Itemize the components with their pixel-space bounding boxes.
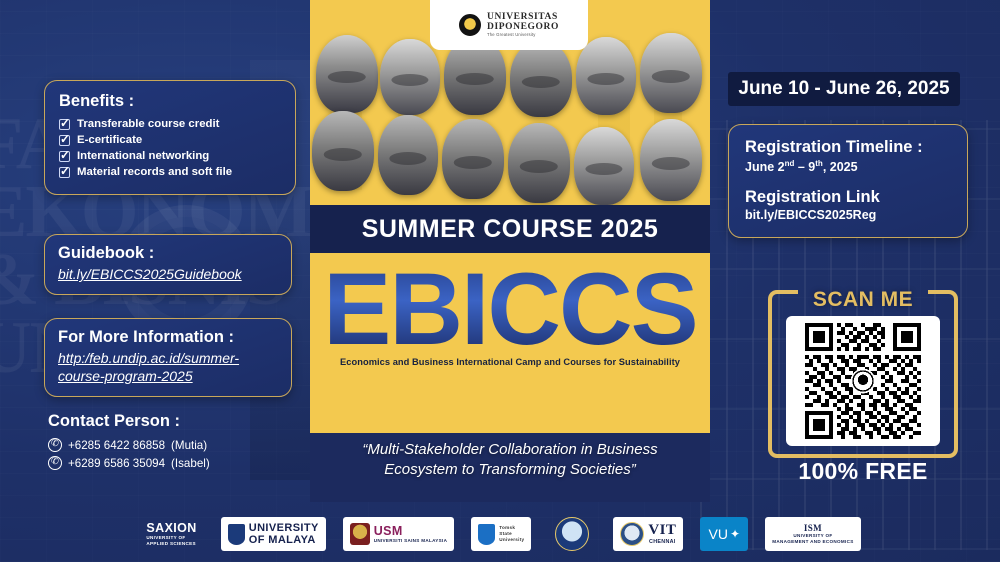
partner-logos-footer: SAXION UNIVERSITY OFAPPLIED SCIENCES UNI… [0, 506, 1000, 562]
partner-logo-usm: USM UNIVERSITI SAINS MALAYSIA [343, 517, 454, 551]
summer-course-bar: SUMMER COURSE 2025 [310, 205, 710, 253]
speaker-portrait [640, 119, 702, 201]
speaker-portrait [576, 37, 636, 115]
registration-link-title: Registration Link [745, 188, 951, 207]
event-date-text: June 10 - June 26, 2025 [738, 78, 949, 100]
benefit-label: Transferable course credit [77, 118, 219, 130]
partner-seal-icon [555, 517, 589, 551]
reg-date-sup-2: th [815, 159, 823, 168]
ism-sub: UNIVERSITY OFMANAGEMENT AND ECONOMICS [772, 533, 853, 544]
usm-crest-icon [350, 523, 370, 545]
ebiccs-title-band: EBICCS Economics and Business Internatio… [310, 253, 710, 433]
partner-logo-ism: ISM UNIVERSITY OFMANAGEMENT AND ECONOMIC… [765, 517, 860, 551]
benefits-list: Transferable course credit E-certificate… [59, 118, 281, 178]
speaker-portrait [640, 33, 702, 113]
benefit-label: Material records and soft file [77, 166, 232, 178]
speaker-portrait [508, 123, 570, 203]
speaker-portrait [316, 35, 378, 113]
speaker-portrait [380, 39, 440, 115]
speaker-portrait [312, 111, 374, 191]
universitas-diponegoro-logo: UNIVERSITAS DIPONEGORO The Greatest Univ… [430, 0, 588, 50]
qr-code-image [793, 323, 933, 439]
reg-date-prefix: June 2 [745, 160, 785, 174]
partner-logo-seal [548, 517, 596, 551]
reg-date-suffix: , 2025 [823, 160, 858, 174]
registration-link[interactable]: bit.ly/EBICCS2025Reg [745, 208, 951, 222]
reg-date-sup-1: nd [785, 159, 795, 168]
frame-edge-left [768, 312, 772, 436]
usm-sub: UNIVERSITI SAINS MALAYSIA [374, 538, 447, 544]
benefit-item: Material records and soft file [59, 166, 281, 178]
contact-phone: +6289 6586 35094 [68, 457, 165, 470]
tomsk-name: TomskStateUniversity [499, 525, 524, 542]
speaker-portrait [510, 41, 572, 117]
partner-logo-vu-amsterdam: VU ✦ [700, 517, 748, 551]
registration-card: Registration Timeline : June 2nd – 9th, … [728, 124, 968, 238]
benefit-item: E-certificate [59, 134, 281, 146]
checkbox-icon [59, 135, 70, 146]
ebiccs-expansion: Economics and Business International Cam… [340, 357, 680, 367]
qr-code-section[interactable]: SCAN ME [768, 290, 958, 458]
more-information-link[interactable]: http:/feb.undip.ac.id/summer- course-pro… [58, 349, 278, 385]
benefit-item: Transferable course credit [59, 118, 281, 130]
guidebook-title: Guidebook : [58, 244, 278, 263]
tagline-line-1: “Multi-Stakeholder Collaboration in Busi… [310, 440, 710, 460]
malaya-name: UNIVERSITYOF MALAYA [249, 522, 319, 546]
poster-tagline: “Multi-Stakeholder Collaboration in Busi… [310, 440, 710, 480]
more-info-link-line-2: course-program-2025 [58, 368, 193, 384]
whatsapp-icon [48, 438, 62, 452]
usm-name: USM [374, 524, 447, 538]
vu-name: VU [709, 526, 728, 542]
malaya-shield-icon [228, 524, 245, 545]
checkbox-icon [59, 167, 70, 178]
scan-me-label: SCAN ME [768, 288, 958, 312]
vu-mark-icon: ✦ [730, 527, 740, 541]
speaker-portrait [378, 115, 438, 195]
partner-logo-vit-chennai: VIT CHENNAI [613, 517, 683, 551]
whatsapp-icon [48, 456, 62, 470]
benefit-label: E-certificate [77, 134, 142, 146]
more-information-card: For More Information : http:/feb.undip.a… [44, 318, 292, 397]
speaker-portrait [442, 119, 504, 199]
poster-root: FAK EKONOMIKA & BISNIS UNIVER [0, 0, 1000, 562]
partner-logo-saxion: SAXION UNIVERSITY OFAPPLIED SCIENCES [139, 517, 203, 551]
registration-timeline-dates: June 2nd – 9th, 2025 [745, 159, 951, 174]
tagline-line-2: Ecosystem to Transforming Societies” [310, 460, 710, 480]
benefits-card: Benefits : Transferable course credit E-… [44, 80, 296, 195]
vit-name: VIT [648, 522, 676, 539]
ebiccs-acronym: EBICCS [323, 257, 696, 361]
contact-row[interactable]: +6289 6586 35094 (Isabel) [48, 456, 308, 470]
frame-edge-right [954, 312, 958, 436]
benefit-item: International networking [59, 150, 281, 162]
guidebook-card: Guidebook : bit.ly/EBICCS2025Guidebook [44, 234, 292, 295]
contact-person-section: Contact Person : +6285 6422 86858 (Mutia… [48, 412, 308, 474]
checkbox-icon [59, 151, 70, 162]
guidebook-link[interactable]: bit.ly/EBICCS2025Guidebook [58, 265, 278, 283]
contact-phone: +6285 6422 86858 [68, 439, 165, 452]
contact-row[interactable]: +6285 6422 86858 (Mutia) [48, 438, 308, 452]
contact-name: (Isabel) [171, 457, 210, 470]
vit-sub: CHENNAI [648, 539, 676, 546]
registration-timeline-title: Registration Timeline : [745, 138, 951, 157]
checkbox-icon [59, 119, 70, 130]
center-poster-panel: UNIVERSITAS DIPONEGORO The Greatest Univ… [310, 0, 710, 502]
speaker-portrait [574, 127, 634, 205]
more-information-title: For More Information : [58, 328, 278, 347]
partner-logo-tomsk-state-university: TomskStateUniversity [471, 517, 531, 551]
benefits-title: Benefits : [59, 92, 281, 111]
tomsk-shield-icon [478, 524, 495, 545]
vit-seal-icon [620, 522, 644, 546]
saxion-sub: UNIVERSITY OFAPPLIED SCIENCES [146, 535, 196, 546]
contact-person-title: Contact Person : [48, 412, 308, 431]
benefit-label: International networking [77, 150, 209, 162]
saxion-name: SAXION [146, 521, 196, 535]
undip-tagline: The Greatest University [487, 33, 559, 37]
summer-course-title: SUMMER COURSE 2025 [362, 215, 659, 244]
free-label: 100% FREE [740, 458, 986, 485]
event-date-banner: June 10 - June 26, 2025 [728, 72, 960, 106]
more-info-link-line-1: http:/feb.undip.ac.id/summer- [58, 350, 239, 366]
contact-name: (Mutia) [171, 439, 207, 452]
ism-name: ISM [772, 523, 853, 533]
reg-date-mid: – 9 [794, 160, 815, 174]
qr-code[interactable] [786, 316, 940, 446]
speaker-portrait-grid [310, 25, 710, 215]
diponegoro-seal-icon [459, 14, 481, 36]
partner-logo-university-of-malaya: UNIVERSITYOF MALAYA [221, 517, 326, 551]
